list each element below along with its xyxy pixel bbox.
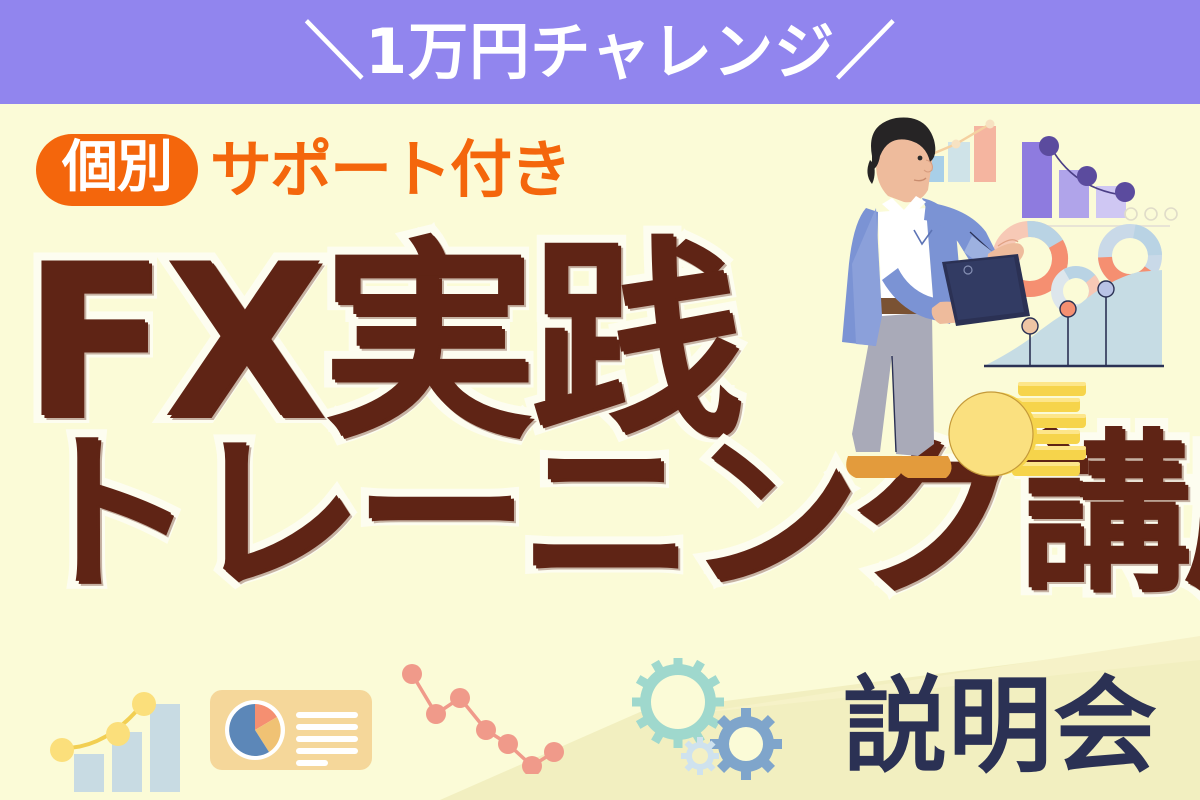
gear-small-icon <box>681 737 719 775</box>
marketing-banner: ＼1万円チャレンジ／ 個別 サポート付き FX実践 トレーニング講座 説明会 <box>0 0 1200 800</box>
top-ribbon-text: ＼1万円チャレンジ／ <box>304 21 896 83</box>
subtitle-row: 個別 サポート付き <box>36 134 570 206</box>
decoration-pie-chart-card <box>210 684 380 784</box>
gear-medium-icon <box>710 708 782 780</box>
decoration-growth-bar-chart <box>14 676 204 796</box>
top-ribbon: ＼1万円チャレンジ／ <box>0 0 1200 104</box>
subtitle-text: サポート付き <box>210 139 570 201</box>
decoration-declining-line-chart <box>398 654 618 774</box>
mini-bar-chart <box>914 120 997 183</box>
gear-large-icon <box>632 658 724 748</box>
main-title: FX実践 トレーニング講座 <box>22 238 1182 598</box>
decoration-gears <box>620 658 790 788</box>
individual-support-badge: 個別 <box>36 134 198 206</box>
meeting-heading: 説明会 <box>843 674 1158 778</box>
title-line-2: トレーニング講座 <box>22 430 1182 599</box>
purple-bar-chart <box>1020 136 1177 226</box>
